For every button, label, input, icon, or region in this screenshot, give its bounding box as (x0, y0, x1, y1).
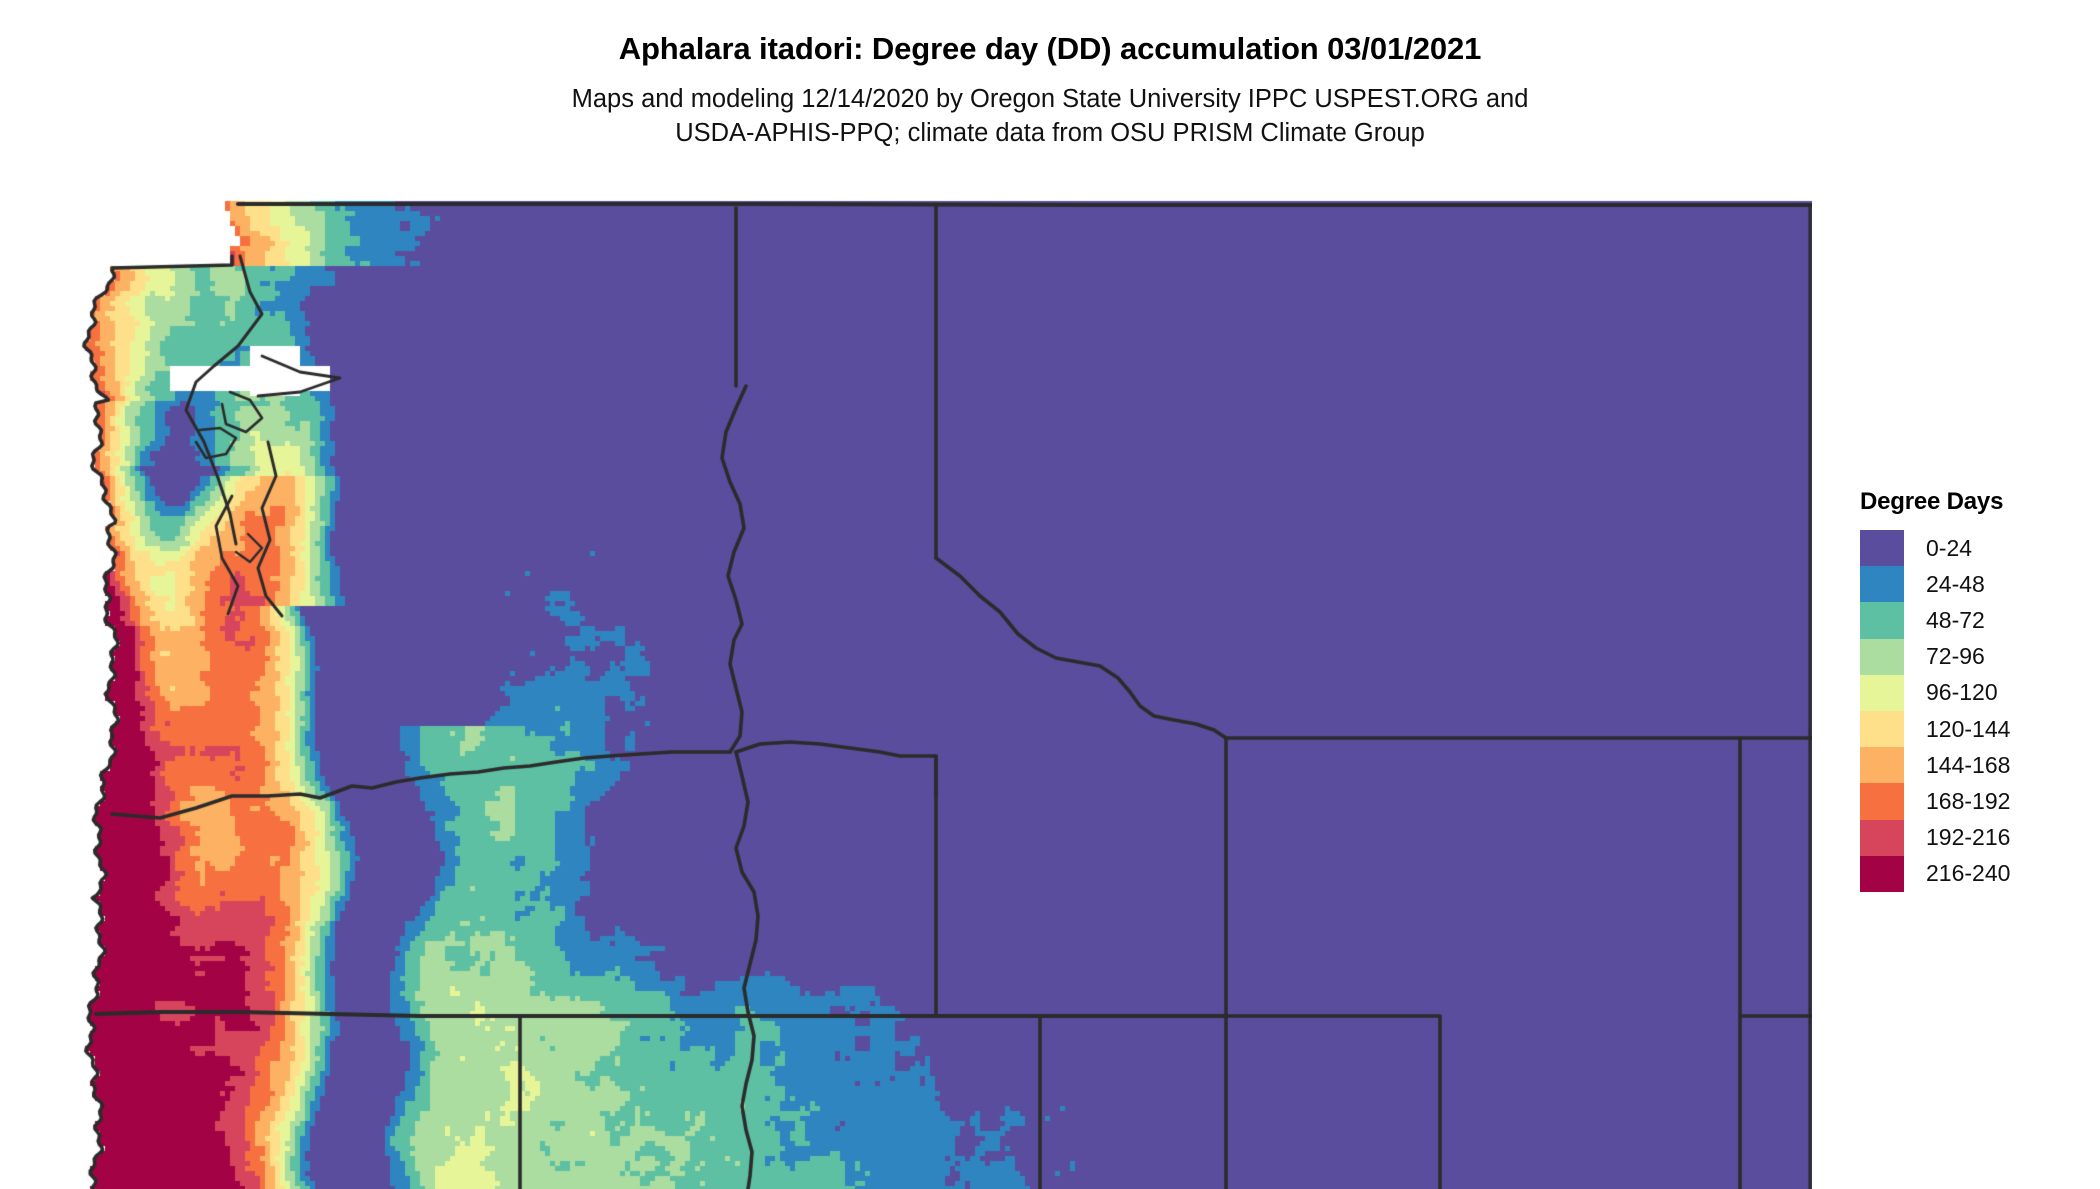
legend-item-label: 96-120 (1926, 681, 1998, 704)
legend-swatch (1860, 639, 1904, 675)
legend-swatch (1860, 711, 1904, 747)
degree-day-map-page: Aphalara itadori: Degree day (DD) accumu… (0, 0, 2100, 1189)
chart-subtitle-line-2: USDA-APHIS-PPQ; climate data from OSU PR… (0, 117, 2100, 151)
legend-swatch (1860, 856, 1904, 892)
legend-swatch (1860, 820, 1904, 856)
legend-item-label: 24-48 (1926, 573, 1985, 596)
legend-item-label: 120-144 (1926, 718, 2010, 741)
legend-item: 192-216 (1860, 820, 2090, 856)
legend-item: 168-192 (1860, 783, 2090, 819)
chart-subtitle-line-1: Maps and modeling 12/14/2020 by Oregon S… (0, 83, 2100, 117)
legend-swatch (1860, 747, 1904, 783)
legend-items: 0-2424-4848-7272-9696-120120-144144-1681… (1860, 530, 2090, 892)
legend-item-label: 144-168 (1926, 754, 2010, 777)
page-title: Aphalara itadori: Degree day (DD) accumu… (0, 30, 2100, 69)
legend-item-label: 0-24 (1926, 537, 1972, 560)
degree-day-raster-canvas (0, 196, 1812, 1189)
legend-swatch (1860, 783, 1904, 819)
legend-swatch (1860, 675, 1904, 711)
legend-item: 144-168 (1860, 747, 2090, 783)
degree-day-map (0, 196, 1812, 1189)
legend-item: 48-72 (1860, 602, 2090, 638)
legend-item: 0-24 (1860, 530, 2090, 566)
legend: Degree Days 0-2424-4848-7272-9696-120120… (1860, 488, 2090, 892)
legend-swatch (1860, 602, 1904, 638)
legend-title: Degree Days (1860, 488, 2090, 516)
legend-item: 120-144 (1860, 711, 2090, 747)
legend-item-label: 48-72 (1926, 609, 1985, 632)
chart-subtitle: Maps and modeling 12/14/2020 by Oregon S… (0, 83, 2100, 151)
legend-swatch (1860, 566, 1904, 602)
legend-item: 72-96 (1860, 639, 2090, 675)
legend-item: 216-240 (1860, 856, 2090, 892)
legend-item: 96-120 (1860, 675, 2090, 711)
chart-header: Aphalara itadori: Degree day (DD) accumu… (0, 0, 2100, 151)
legend-item-label: 72-96 (1926, 645, 1985, 668)
legend-swatch (1860, 530, 1904, 566)
legend-item-label: 168-192 (1926, 790, 2010, 813)
legend-item-label: 216-240 (1926, 862, 2010, 885)
legend-item-label: 192-216 (1926, 826, 2010, 849)
legend-item: 24-48 (1860, 566, 2090, 602)
